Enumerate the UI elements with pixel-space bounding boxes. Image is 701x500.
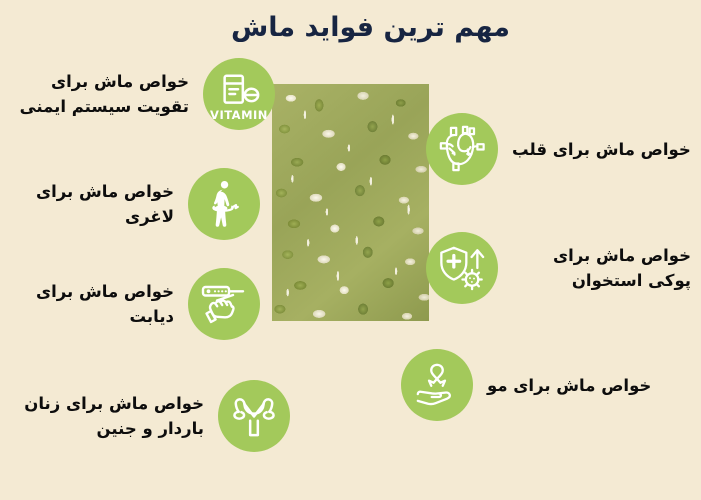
vitamin-bottle-icon: VITAMIN	[203, 58, 275, 130]
anatomical-heart-icon	[426, 113, 498, 185]
page-title: مهم ترین فواید ماش	[0, 8, 701, 48]
benefit-item-hair[interactable]: خواص ماش برای مو	[401, 349, 691, 421]
slim-body-measuring-tape-icon	[188, 168, 260, 240]
benefit-item-weight-loss[interactable]: خواص ماش برای لاغری	[10, 168, 260, 240]
uterus-icon	[218, 380, 290, 452]
hand-ribbon-icon	[401, 349, 473, 421]
benefit-label-pregnancy: خواص ماش برای زنان باردار و جنین	[15, 391, 204, 441]
sprouted-mung-beans-photo	[272, 84, 429, 321]
benefit-label-immune-system: خواص ماش برای تقویت سیستم ایمنی	[10, 69, 189, 119]
benefit-item-immune-system[interactable]: VITAMIN خواص ماش برای تقویت سیستم ایمنی	[10, 58, 275, 130]
glucose-meter-hand-icon	[188, 268, 260, 340]
benefit-item-heart[interactable]: خواص ماش برای قلب	[426, 113, 691, 185]
benefit-label-diabetes: خواص ماش برای دیابت	[10, 279, 174, 329]
vitamin-caption: VITAMIN	[203, 108, 275, 122]
benefit-label-osteoporosis: خواص ماش برای پوکی استخوان	[512, 243, 691, 293]
benefit-item-diabetes[interactable]: خواص ماش برای دیابت	[10, 268, 260, 340]
sprout-highlights	[272, 84, 429, 321]
benefit-label-heart: خواص ماش برای قلب	[512, 137, 691, 162]
benefit-item-pregnancy[interactable]: خواص ماش برای زنان باردار و جنین	[15, 380, 290, 452]
infographic-canvas: مهم ترین فواید ماش VITAMIN خواص ماش برای…	[0, 0, 701, 500]
benefit-item-osteoporosis[interactable]: خواص ماش برای پوکی استخوان	[426, 232, 691, 304]
shield-virus-arrow-icon	[426, 232, 498, 304]
benefit-label-hair: خواص ماش برای مو	[487, 373, 651, 398]
benefit-label-weight-loss: خواص ماش برای لاغری	[10, 179, 174, 229]
